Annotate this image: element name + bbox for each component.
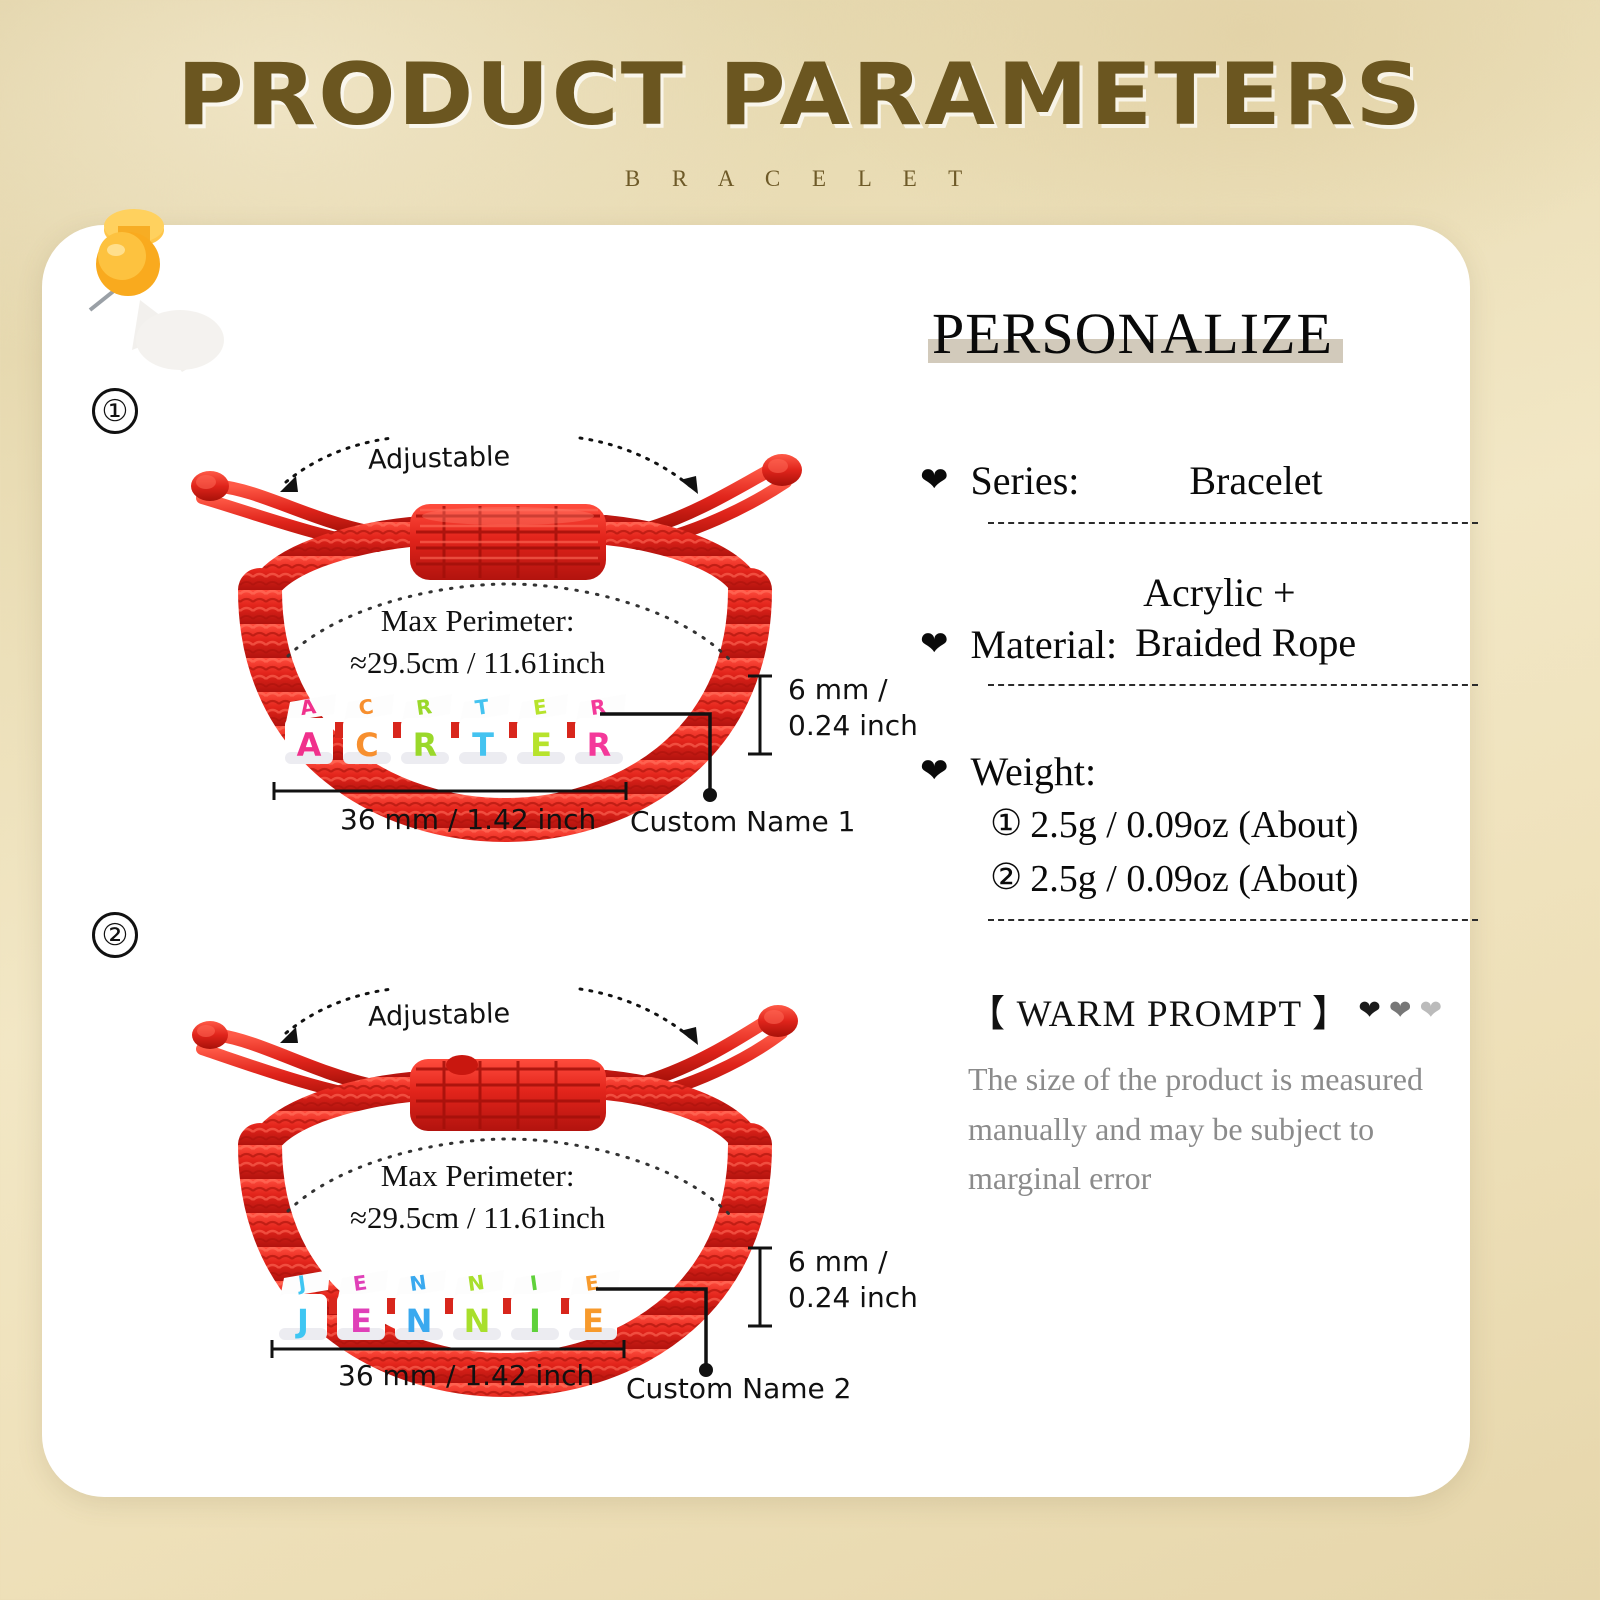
bead-row: AACCRRTTEERR: [281, 672, 629, 770]
max-perimeter-line1: Max Perimeter:: [350, 600, 605, 642]
heart-icon-medium: ❤︎: [1389, 995, 1412, 1026]
heart-icon: ❤: [920, 628, 949, 662]
personalize-heading-wrap: PERSONALIZE: [932, 300, 1333, 367]
custom-name-label-2: Custom Name 2: [626, 1372, 852, 1405]
bead-letter-front: J: [295, 1302, 309, 1340]
letter-bead: II: [511, 1270, 562, 1340]
letter-bead: NN: [395, 1270, 446, 1340]
max-perimeter-line2: ≈29.5cm / 11.61inch: [350, 1197, 605, 1239]
spec-value-material-line2: Braided Rope: [1135, 618, 1356, 668]
custom-name-label-1: Custom Name 1: [630, 805, 856, 838]
personalize-heading: PERSONALIZE: [932, 300, 1333, 367]
spec-row-material: ❤ Material: Acrylic + Braided Rope: [920, 568, 1500, 686]
width-dimension-1: [270, 780, 630, 802]
adjustable-label-2: Adjustable: [368, 998, 511, 1033]
bead-letter-front: R: [413, 726, 438, 764]
custom-name-leader-2: [596, 1275, 756, 1385]
weight-text-2: 2.5g / 0.09oz (About): [1030, 858, 1358, 900]
heart-icon-dark: ❤︎: [1358, 995, 1381, 1026]
bead-letter-front: E: [350, 1302, 372, 1340]
bead-letter-front: E: [530, 726, 552, 764]
thickness-label-2: 6 mm / 0.24 inch: [788, 1244, 918, 1316]
thickness-line1: 6 mm /: [788, 1244, 918, 1280]
thickness-line2: 0.24 inch: [788, 1280, 918, 1316]
spec-key-weight: Weight:: [971, 748, 1097, 795]
spec-row-series: ❤ Series: Bracelet: [920, 457, 1500, 524]
letter-beads-2: JJEENNNNIIEE: [275, 1248, 623, 1351]
width-label-1: 36 mm / 1.42 inch: [340, 802, 596, 838]
adjustable-label-1: Adjustable: [368, 441, 511, 476]
bead-letter-front: N: [406, 1302, 433, 1340]
page-header: PRODUCT PARAMETERS B R A C E L E T: [0, 52, 1600, 192]
warm-prompt-section: 【 WARM PROMPT 】 ❤︎ ❤︎ ❤︎ The size of the…: [968, 983, 1500, 1204]
bead-row: JJEENNNNIIEE: [275, 1248, 623, 1346]
width-dimension-2: [268, 1338, 628, 1360]
spec-value-series: Bracelet: [1189, 457, 1322, 504]
separator-weight: [988, 919, 1478, 921]
bead-letter-front: N: [464, 1302, 491, 1340]
bead-letter-front: A: [297, 726, 322, 764]
max-perimeter-line1: Max Perimeter:: [350, 1155, 605, 1197]
bead-letter-top: N: [408, 1270, 428, 1296]
heart-icon: ❤: [920, 464, 949, 498]
letter-bead: CC: [343, 694, 394, 764]
thickness-line2: 0.24 inch: [788, 708, 918, 744]
warm-prompt-body: The size of the product is measured manu…: [968, 1055, 1438, 1204]
bead-letter-front: T: [472, 726, 494, 764]
warm-prompt-title: 【 WARM PROMPT 】: [968, 983, 1350, 1037]
heart-icon: ❤: [920, 755, 949, 789]
letter-bead: NN: [453, 1270, 504, 1340]
bead-letter-top: N: [466, 1270, 486, 1296]
separator-material: [988, 684, 1478, 686]
weight-marker-2: ②: [990, 859, 1022, 893]
heart-icon-light: ❤︎: [1420, 995, 1443, 1026]
weight-item-1: ①2.5g / 0.09oz (About): [990, 803, 1500, 847]
weight-marker-1: ①: [990, 805, 1022, 839]
page-subtitle: B R A C E L E T: [0, 166, 1600, 192]
spec-key-material: Material:: [971, 621, 1118, 668]
letter-bead: AA: [285, 694, 336, 764]
letter-beads-1: AACCRRTTEERR: [281, 672, 629, 775]
bead-letter-front: C: [355, 726, 378, 764]
thickness-line1: 6 mm /: [788, 672, 918, 708]
page-title: PRODUCT PARAMETERS: [0, 52, 1600, 138]
letter-bead: EE: [337, 1270, 388, 1340]
separator-series: [988, 522, 1478, 524]
spec-key-series: Series:: [971, 457, 1080, 504]
weight-item-2: ②2.5g / 0.09oz (About): [990, 857, 1500, 901]
personalize-panel: PERSONALIZE ❤ Series: Bracelet ❤ Materia…: [920, 300, 1500, 1204]
bead-letter-front: I: [529, 1302, 541, 1340]
product-marker-2: ②: [92, 912, 138, 958]
letter-bead: RR: [401, 694, 452, 764]
letter-bead: TT: [459, 694, 510, 764]
width-label-2: 36 mm / 1.42 inch: [338, 1358, 594, 1394]
letter-bead: EE: [517, 694, 568, 764]
thickness-label-1: 6 mm / 0.24 inch: [788, 672, 918, 744]
letter-bead: JJ: [279, 1270, 330, 1340]
spec-value-material-line1: Acrylic +: [1135, 568, 1356, 618]
weight-text-1: 2.5g / 0.09oz (About): [1030, 804, 1358, 846]
spec-row-weight: ❤ Weight: ①2.5g / 0.09oz (About) ②2.5g /…: [920, 748, 1500, 921]
max-perimeter-label-2: Max Perimeter: ≈29.5cm / 11.61inch: [350, 1155, 605, 1239]
